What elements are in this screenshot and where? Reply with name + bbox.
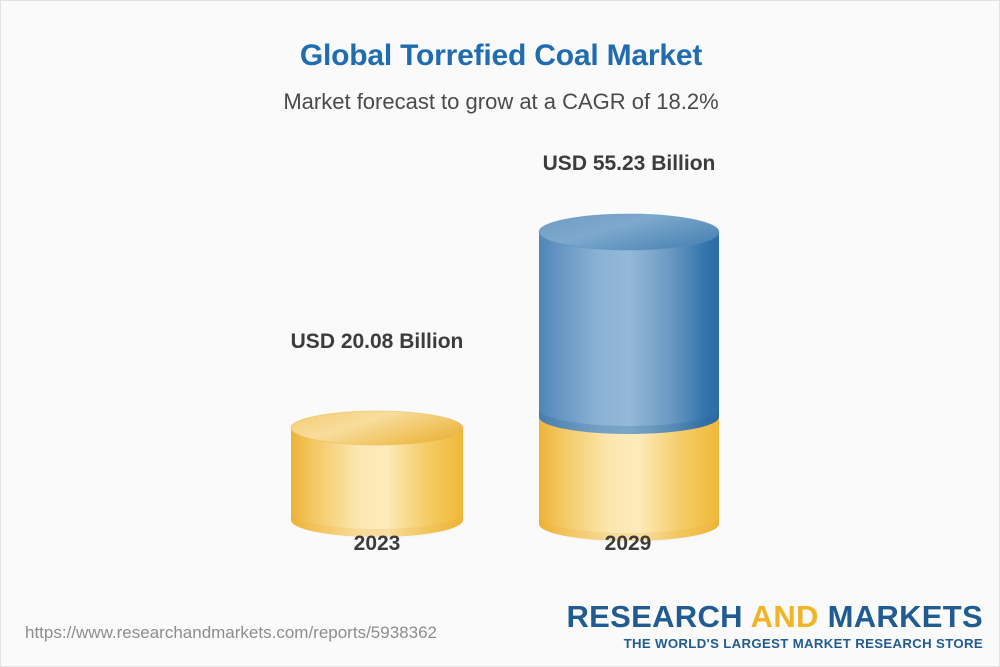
axis-label-2029: 2029 bbox=[528, 532, 728, 556]
bar-group-2023: USD 20.08 Billion bbox=[288, 331, 466, 542]
report-url[interactable]: https://www.researchandmarkets.com/repor… bbox=[25, 623, 437, 643]
logo-word-and: AND bbox=[751, 599, 819, 634]
plot-area: USD 20.08 Billion bbox=[1, 1, 1000, 601]
bar-group-2029: USD 55.23 Billion bbox=[536, 153, 722, 546]
cylinder-2029-shape bbox=[536, 174, 722, 546]
logo-tagline: THE WORLD'S LARGEST MARKET RESEARCH STOR… bbox=[567, 637, 984, 650]
cylinder-2023-shape bbox=[288, 352, 466, 542]
bar-value-label-2029: USD 55.23 Billion bbox=[536, 153, 722, 174]
research-and-markets-logo[interactable]: RESEARCH AND MARKETS THE WORLD'S LARGEST… bbox=[567, 601, 984, 650]
bar-value-label-2023: USD 20.08 Billion bbox=[288, 331, 466, 352]
chart-canvas: Global Torrefied Coal Market Market fore… bbox=[0, 0, 1000, 667]
axis-label-2023: 2023 bbox=[277, 532, 477, 556]
logo-word-markets: MARKETS bbox=[819, 599, 983, 634]
logo-wordmark: RESEARCH AND MARKETS bbox=[567, 601, 984, 632]
cylinder-2023[interactable] bbox=[288, 352, 466, 542]
cylinder-2029[interactable] bbox=[536, 174, 722, 546]
logo-word-research: RESEARCH bbox=[567, 599, 751, 634]
